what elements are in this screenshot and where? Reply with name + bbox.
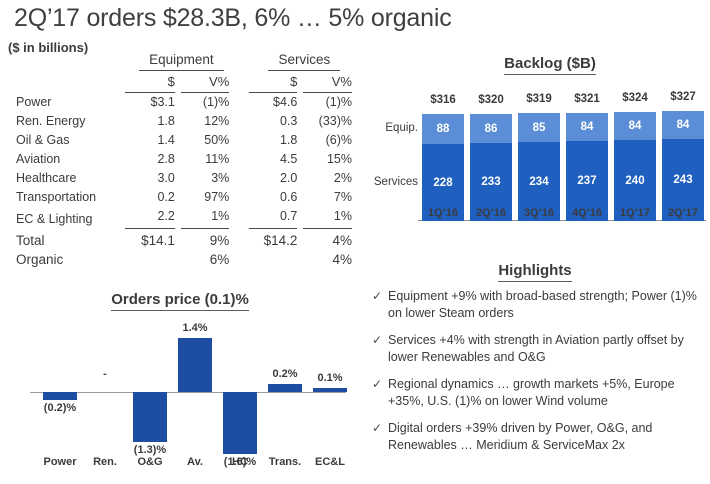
table-row-total: Total$14.19%$14.24% bbox=[12, 229, 360, 250]
table-row: Ren. Energy1.812%0.3(33)% bbox=[12, 112, 360, 131]
row-equipment-pct: 12% bbox=[181, 112, 237, 131]
orders-price-column: 0.1%EC&L bbox=[308, 320, 352, 480]
orders-price-chart-title-label: Orders price (0.1)% bbox=[111, 291, 249, 311]
highlights-title: Highlights bbox=[370, 262, 700, 279]
table-row: Oil & Gas1.450%1.8(6)% bbox=[12, 131, 360, 150]
backlog-bar-column: $319852343Q’16 bbox=[518, 113, 560, 221]
backlog-segment-equipment: 88 bbox=[422, 114, 464, 144]
check-icon: ✓ bbox=[372, 420, 388, 437]
backlog-bar-column: $327842432Q’17 bbox=[662, 111, 704, 221]
orders-price-bar bbox=[313, 388, 347, 392]
orders-price-value-label: - bbox=[77, 368, 133, 380]
list-item: ✓Services +4% with strength in Aviation … bbox=[372, 332, 704, 365]
row-equipment-dollars: 2.8 bbox=[125, 150, 180, 169]
orders-price-bar bbox=[223, 392, 257, 454]
sub-header-equipment-dollars: $ bbox=[125, 72, 180, 93]
total-services-dollars: $14.2 bbox=[249, 229, 304, 250]
backlog-chart-title-label: Backlog ($B) bbox=[504, 55, 596, 75]
sub-header-services-dollars: $ bbox=[249, 72, 304, 93]
backlog-total-label: $324 bbox=[608, 92, 662, 104]
sub-header-services-pct: V% bbox=[303, 72, 360, 93]
backlog-segment-equipment: 84 bbox=[614, 112, 656, 140]
orders-price-bar bbox=[43, 392, 77, 400]
backlog-segment-equipment: 85 bbox=[518, 113, 560, 142]
orders-price-value-label: 1.4% bbox=[167, 322, 223, 334]
row-label: Oil & Gas bbox=[12, 131, 125, 150]
row-equipment-dollars: 1.8 bbox=[125, 112, 180, 131]
page-title: 2Q’17 orders $28.3B, 6% … 5% organic bbox=[14, 4, 452, 33]
total-equipment-dollars: $14.1 bbox=[125, 229, 180, 250]
table-row: Aviation2.811%4.515% bbox=[12, 150, 360, 169]
row-gap bbox=[237, 207, 248, 229]
organic-services-dollars bbox=[249, 250, 304, 269]
row-gap bbox=[237, 131, 248, 150]
list-item: ✓Regional dynamics … growth markets +5%,… bbox=[372, 376, 704, 409]
row-services-pct: (1)% bbox=[303, 93, 360, 112]
backlog-segment-equipment: 84 bbox=[566, 113, 608, 141]
row-equipment-pct: (1)% bbox=[181, 93, 237, 112]
row-label: Power bbox=[12, 93, 125, 112]
row-label: Transportation bbox=[12, 188, 125, 207]
orders-price-x-label: EC&L bbox=[300, 456, 360, 468]
orders-table-body: Power$3.1(1)%$4.6(1)%Ren. Energy1.812%0.… bbox=[12, 93, 360, 269]
group-header-services-label: Services bbox=[268, 50, 340, 71]
orders-price-bar bbox=[133, 392, 167, 442]
row-services-dollars: 2.0 bbox=[249, 169, 304, 188]
backlog-total-label: $327 bbox=[656, 91, 710, 103]
total-label: Total bbox=[12, 229, 125, 250]
row-equipment-pct: 1% bbox=[181, 207, 237, 229]
row-services-pct: 2% bbox=[303, 169, 360, 188]
organic-services-pct: 4% bbox=[303, 250, 360, 269]
row-services-dollars: 4.5 bbox=[249, 150, 304, 169]
row-services-dollars: 1.8 bbox=[249, 131, 304, 150]
row-gap bbox=[237, 188, 248, 207]
table-sub-header-row: $ V% $ V% bbox=[12, 72, 360, 93]
row-services-pct: 15% bbox=[303, 150, 360, 169]
highlight-text: Services +4% with strength in Aviation p… bbox=[388, 332, 704, 365]
group-header-equipment: Equipment bbox=[125, 50, 237, 72]
row-label: EC & Lighting bbox=[12, 207, 125, 229]
highlights-title-label: Highlights bbox=[498, 262, 571, 282]
backlog-total-label: $316 bbox=[416, 94, 470, 106]
row-label: Healthcare bbox=[12, 169, 125, 188]
total-services-pct: 4% bbox=[303, 229, 360, 250]
group-header-spacer bbox=[12, 50, 125, 72]
backlog-series-label-equipment: Equip. bbox=[364, 122, 418, 134]
backlog-bar-column: $321842374Q’16 bbox=[566, 113, 608, 221]
organic-equipment-dollars bbox=[125, 250, 180, 269]
row-label: Ren. Energy bbox=[12, 112, 125, 131]
orders-price-bar bbox=[178, 338, 212, 392]
backlog-total-label: $319 bbox=[512, 93, 566, 105]
organic-equipment-pct: 6% bbox=[181, 250, 237, 269]
backlog-bar-column: $324842401Q’17 bbox=[614, 112, 656, 221]
sub-header-equipment-pct-label: V% bbox=[181, 72, 229, 93]
sub-header-equipment-dollars-label: $ bbox=[125, 72, 174, 93]
backlog-segment-equipment: 84 bbox=[662, 111, 704, 139]
backlog-chart-title: Backlog ($B) bbox=[400, 55, 700, 72]
row-services-pct: 1% bbox=[303, 207, 360, 229]
row-equipment-pct: 11% bbox=[181, 150, 237, 169]
backlog-total-label: $321 bbox=[560, 93, 614, 105]
list-item: ✓Equipment +9% with broad-based strength… bbox=[372, 288, 704, 321]
check-icon: ✓ bbox=[372, 376, 388, 393]
row-equipment-dollars: 0.2 bbox=[125, 188, 180, 207]
group-header-gap bbox=[237, 50, 248, 72]
row-equipment-pct: 97% bbox=[181, 188, 237, 207]
total-equipment-pct: 9% bbox=[181, 229, 237, 250]
highlight-text: Digital orders +39% driven by Power, O&G… bbox=[388, 420, 704, 453]
sub-header-services-dollars-label: $ bbox=[249, 72, 298, 93]
backlog-chart: Equip. Services $316882281Q’16$320862332… bbox=[366, 88, 706, 243]
backlog-total-label: $320 bbox=[464, 94, 518, 106]
organic-label: Organic bbox=[12, 250, 125, 269]
orders-price-bar bbox=[268, 384, 302, 392]
backlog-series-label-services: Services bbox=[360, 176, 418, 188]
table-row: EC & Lighting2.21%0.71% bbox=[12, 207, 360, 229]
row-services-dollars: $4.6 bbox=[249, 93, 304, 112]
group-header-equipment-label: Equipment bbox=[139, 50, 224, 71]
table-row: Transportation0.297%0.67% bbox=[12, 188, 360, 207]
row-equipment-dollars: 3.0 bbox=[125, 169, 180, 188]
row-services-pct: 7% bbox=[303, 188, 360, 207]
row-equipment-pct: 50% bbox=[181, 131, 237, 150]
sub-header-spacer bbox=[12, 72, 125, 93]
table-row: Healthcare3.03%2.02% bbox=[12, 169, 360, 188]
row-services-dollars: 0.7 bbox=[249, 207, 304, 229]
table-row: Power$3.1(1)%$4.6(1)% bbox=[12, 93, 360, 112]
row-equipment-dollars: 2.2 bbox=[125, 207, 180, 229]
row-equipment-dollars: 1.4 bbox=[125, 131, 180, 150]
row-services-pct: (6)% bbox=[303, 131, 360, 150]
backlog-bar-column: $316882281Q’16 bbox=[422, 114, 464, 221]
row-gap bbox=[237, 150, 248, 169]
table-row-organic: Organic6%4% bbox=[12, 250, 360, 269]
list-item: ✓Digital orders +39% driven by Power, O&… bbox=[372, 420, 704, 453]
backlog-bar-column: $320862332Q’16 bbox=[470, 114, 512, 221]
check-icon: ✓ bbox=[372, 288, 388, 305]
slide-canvas: 2Q’17 orders $28.3B, 6% … 5% organic ($ … bbox=[0, 0, 710, 484]
orders-price-value-label: (1.3)% bbox=[122, 444, 178, 456]
orders-price-value-label: 0.1% bbox=[302, 372, 358, 384]
row-services-pct: (33)% bbox=[303, 112, 360, 131]
check-icon: ✓ bbox=[372, 332, 388, 349]
highlights-list: ✓Equipment +9% with broad-based strength… bbox=[372, 288, 704, 464]
highlight-text: Regional dynamics … growth markets +5%, … bbox=[388, 376, 704, 409]
sub-header-gap bbox=[237, 72, 248, 93]
backlog-segment-equipment: 86 bbox=[470, 114, 512, 143]
sub-header-equipment-pct: V% bbox=[181, 72, 237, 93]
highlight-text: Equipment +9% with broad-based strength;… bbox=[388, 288, 704, 321]
table-group-header-row: Equipment Services bbox=[12, 50, 360, 72]
row-label: Aviation bbox=[12, 150, 125, 169]
orders-price-chart: (0.2)%Power-Ren.(1.3)%O&G1.4%Av.(1.6)%HC… bbox=[12, 320, 352, 480]
backlog-x-label: 2Q’17 bbox=[655, 207, 710, 219]
row-gap bbox=[237, 169, 248, 188]
orders-price-value-label: (0.2)% bbox=[32, 402, 88, 414]
row-gap bbox=[237, 93, 248, 112]
orders-price-chart-title: Orders price (0.1)% bbox=[10, 291, 350, 308]
group-header-services: Services bbox=[249, 50, 360, 72]
orders-table: Equipment Services $ V% $ bbox=[12, 50, 360, 269]
row-equipment-pct: 3% bbox=[181, 169, 237, 188]
row-equipment-dollars: $3.1 bbox=[125, 93, 180, 112]
row-services-dollars: 0.3 bbox=[249, 112, 304, 131]
row-gap bbox=[237, 112, 248, 131]
sub-header-services-pct-label: V% bbox=[303, 72, 352, 93]
row-services-dollars: 0.6 bbox=[249, 188, 304, 207]
